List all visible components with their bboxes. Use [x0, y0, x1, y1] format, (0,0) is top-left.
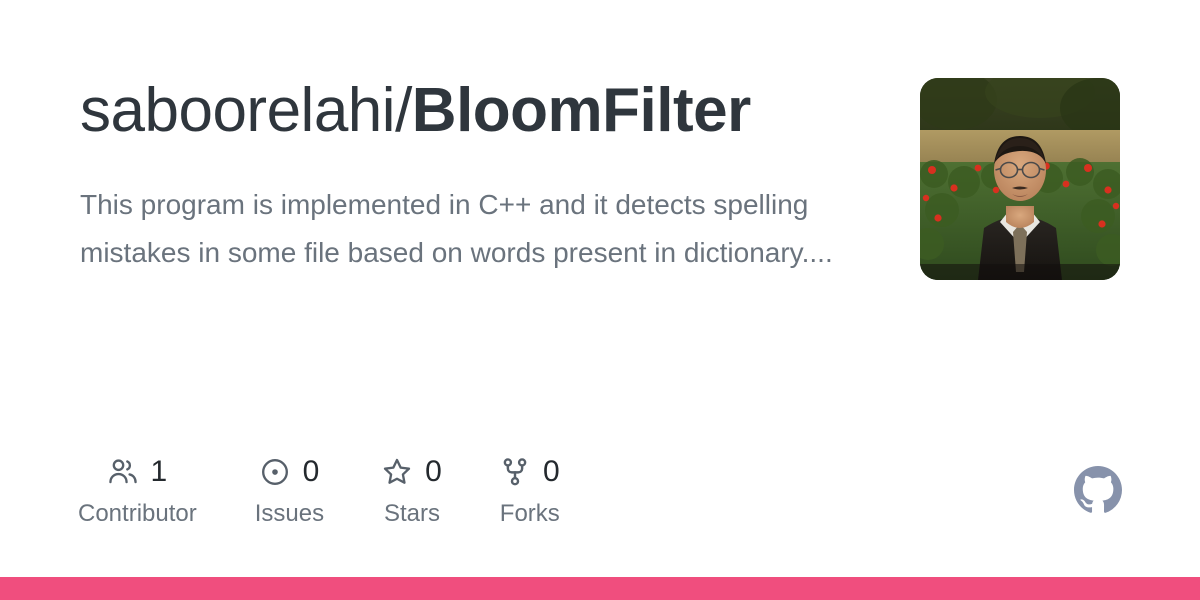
- stat-issues-value-row: 0: [260, 452, 320, 492]
- stat-forks-label: Forks: [500, 502, 560, 526]
- repository-stats: 1 Contributor 0 Issues: [78, 452, 560, 526]
- stat-contributors-count: 1: [151, 457, 168, 487]
- people-icon: [108, 457, 138, 487]
- repository-preview-card: saboorelahi/BloomFilter This program is …: [0, 0, 1200, 600]
- repository-name: BloomFilter: [412, 76, 751, 145]
- stat-stars: 0 Stars: [382, 452, 442, 526]
- issue-opened-icon: [260, 457, 290, 487]
- stat-forks: 0 Forks: [500, 452, 560, 526]
- accent-bar: [0, 577, 1200, 600]
- repository-description: This program is implemented in C++ and i…: [80, 181, 840, 277]
- stat-contributors-label: Contributor: [78, 502, 197, 526]
- stat-issues-count: 0: [303, 457, 320, 487]
- stat-contributors-value-row: 1: [108, 452, 168, 492]
- repository-info: saboorelahi/BloomFilter This program is …: [80, 78, 870, 277]
- star-icon: [382, 457, 412, 487]
- stat-issues-label: Issues: [255, 502, 324, 526]
- page-title: saboorelahi/BloomFilter: [80, 78, 780, 145]
- repo-forked-icon: [500, 457, 530, 487]
- owner-avatar-photo: [920, 78, 1120, 280]
- stat-issues: 0 Issues: [255, 452, 324, 526]
- stat-stars-value-row: 0: [382, 452, 442, 492]
- stat-forks-count: 0: [543, 457, 560, 487]
- stat-forks-value-row: 0: [500, 452, 560, 492]
- stat-stars-count: 0: [425, 457, 442, 487]
- repository-owner: saboorelahi/: [80, 76, 412, 145]
- github-logo-icon: [1074, 466, 1122, 514]
- stat-stars-label: Stars: [384, 502, 440, 526]
- stat-contributors: 1 Contributor: [78, 452, 197, 526]
